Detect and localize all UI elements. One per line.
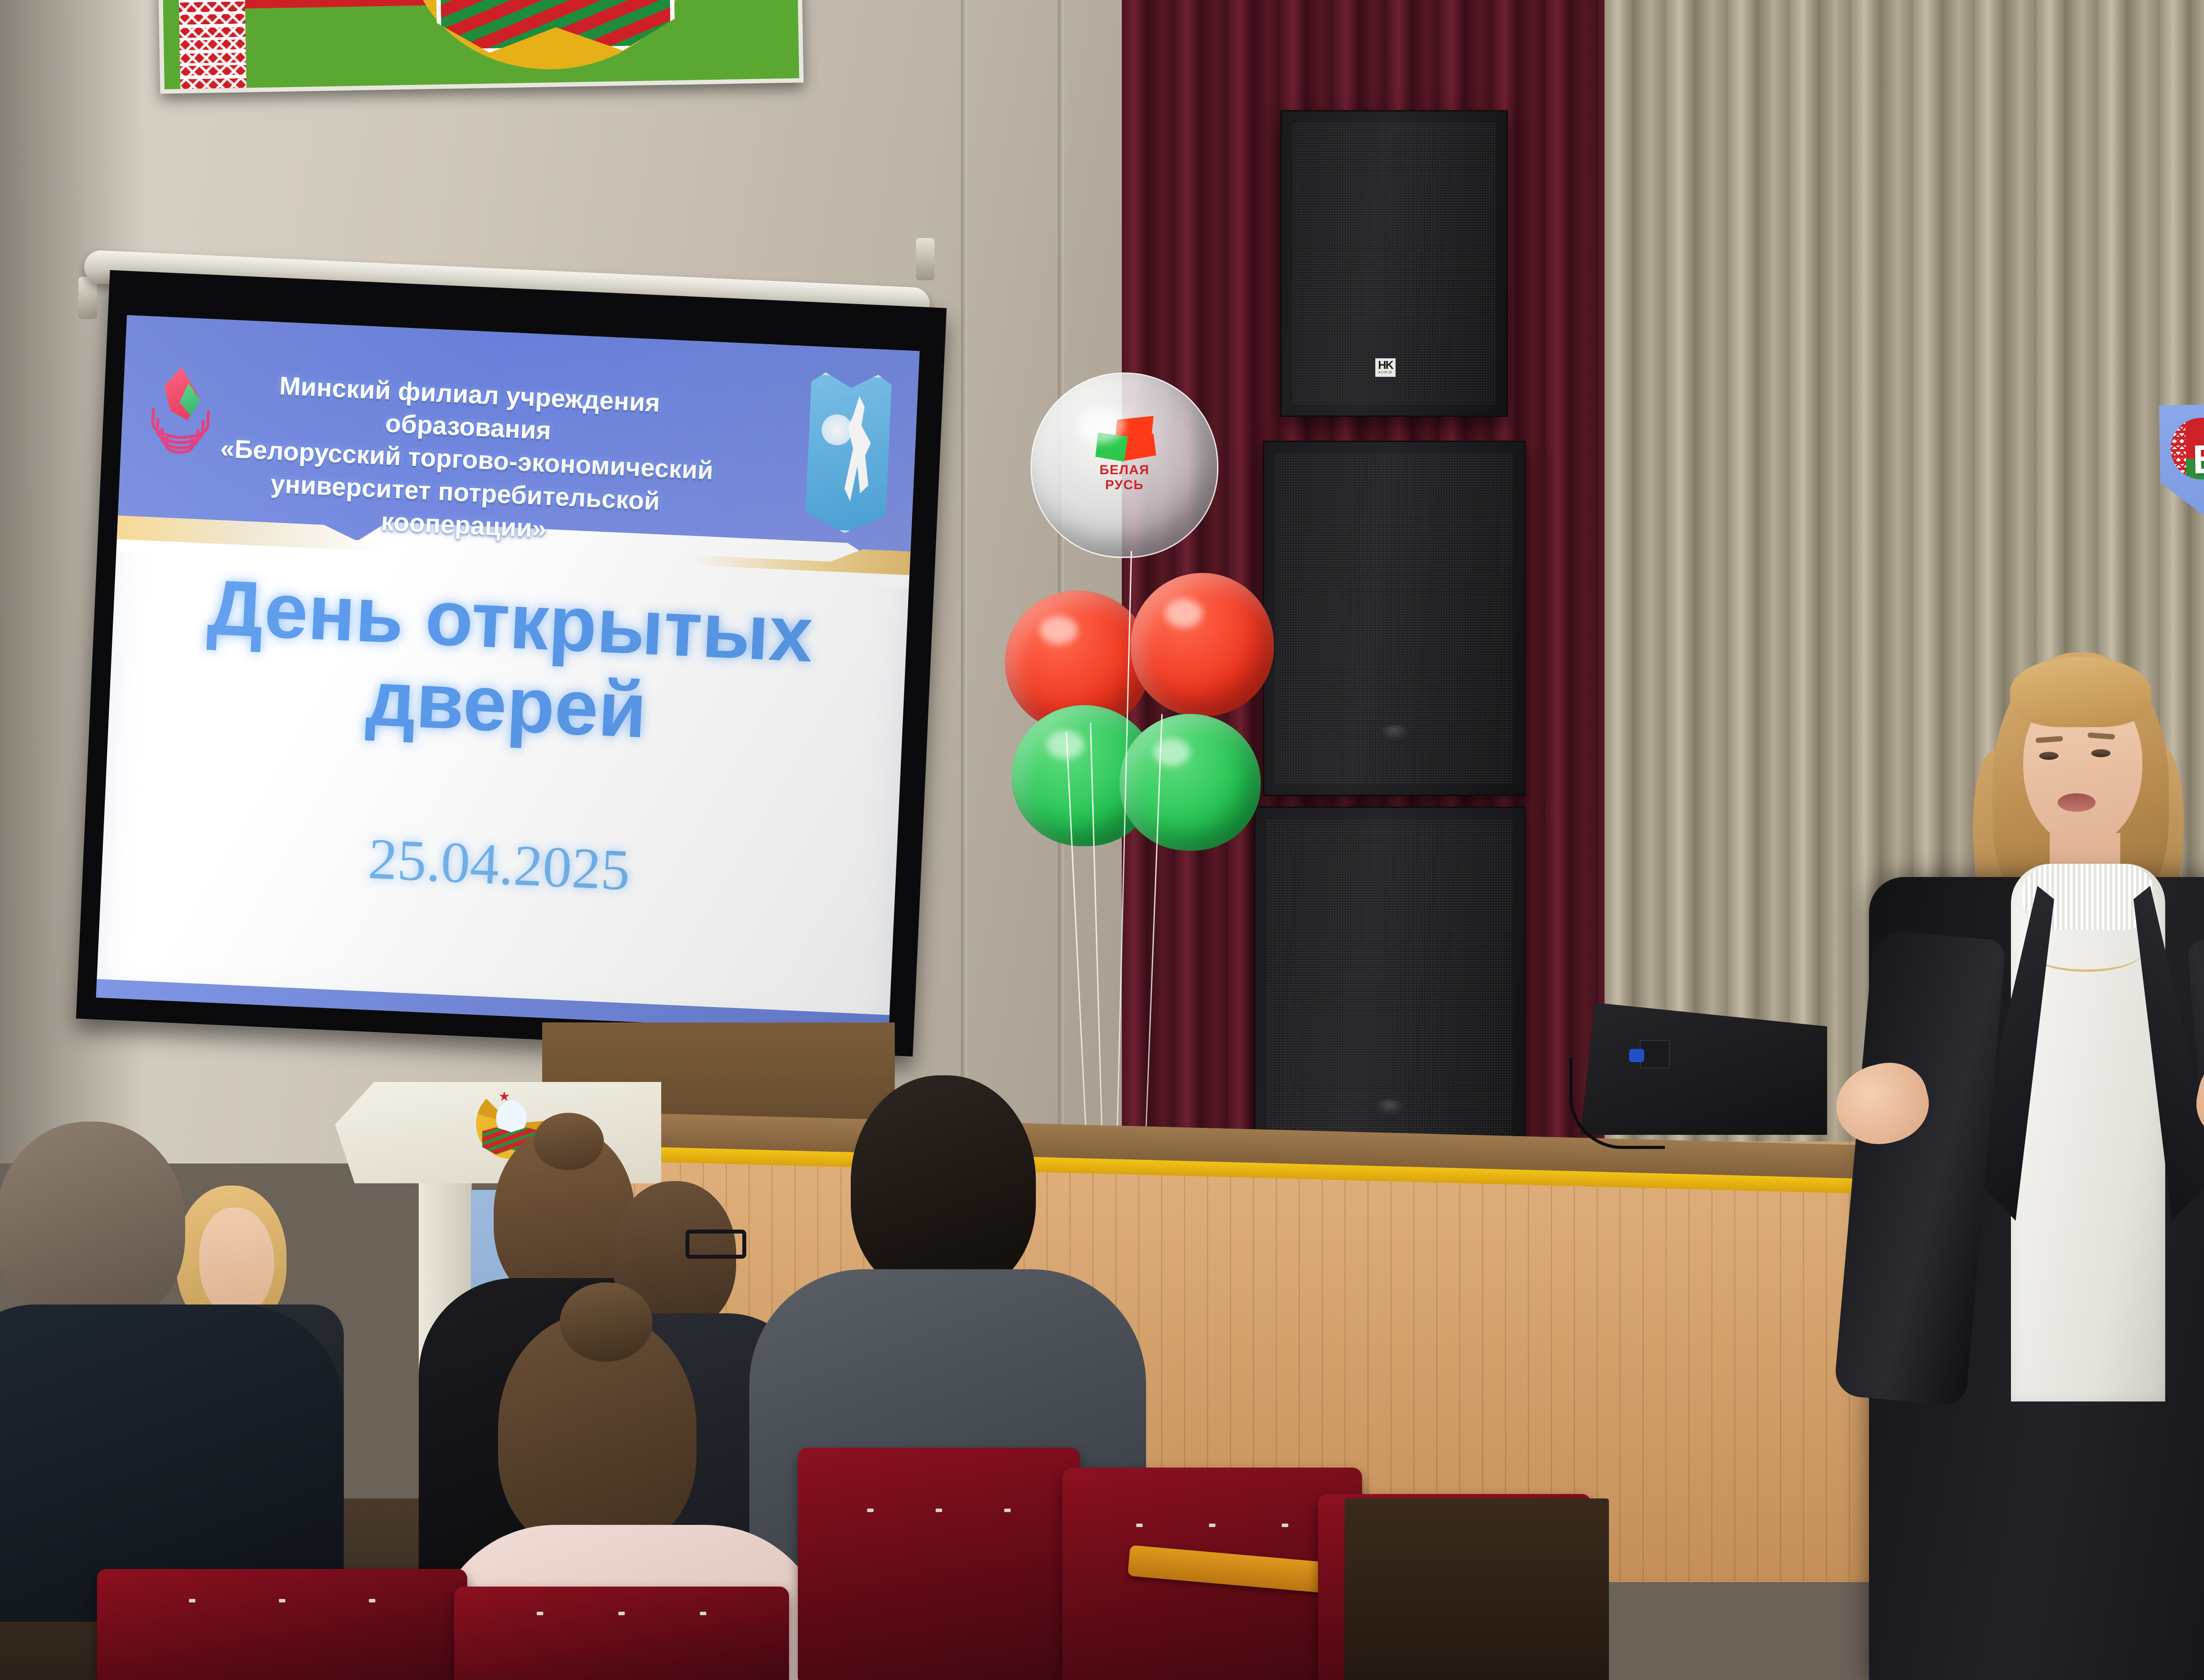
university-logo-icon [145,365,216,479]
slide-date: 25.04.2025 [137,814,862,914]
belarus-state-poster: РЭСПУБЛІКА БЕЛАРУСЬ [157,0,804,94]
wall-seam [961,0,967,1163]
auditorium-seat [798,1448,1080,1680]
slide-institution-name: Минский филиал учреждения образования «Б… [210,367,724,553]
auditorium-seat [454,1587,789,1680]
auditorium-seat [97,1569,467,1680]
coat-of-arms-icon: РЭСПУБЛІКА БЕЛАРУСЬ [407,0,693,72]
speaker-cabinet-top: HK AUDIO [1281,110,1508,417]
screen-roller-end-right [916,238,934,280]
hk-audio-logo-icon: HK AUDIO [1375,358,1396,377]
slide-title: День открытых дверей [143,563,873,762]
presentation-slide: Минский филиал учреждения образования «Б… [96,315,920,1033]
flag-ornament [178,0,246,89]
speaker-brand-text: HK [1378,358,1393,372]
seat-frame [1344,1498,1609,1680]
speaker-cabinet-middle [1263,441,1526,796]
wall-seam [1058,0,1064,1163]
screen-roller-end-left [78,277,97,319]
auditorium-photo: РЭСПУБЛІКА БЕЛАРУСЬ Минский филиал учреж… [0,0,2204,1680]
eyeglasses-icon [685,1230,746,1259]
balloon-red-2 [1131,573,1274,716]
balloon-green-2 [1120,714,1261,851]
belaya-rus-flag-icon [1094,416,1155,460]
minsk-emblem-icon [801,372,895,535]
speaker-cabinet-bottom [1254,807,1526,1162]
speaker-brand-sub: AUDIO [1375,372,1396,374]
balloon-clear-branded: БЕЛАЯ РУСЬ [1031,372,1218,558]
balloon-brand-text: БЕЛАЯ РУСЬ [1078,463,1171,493]
